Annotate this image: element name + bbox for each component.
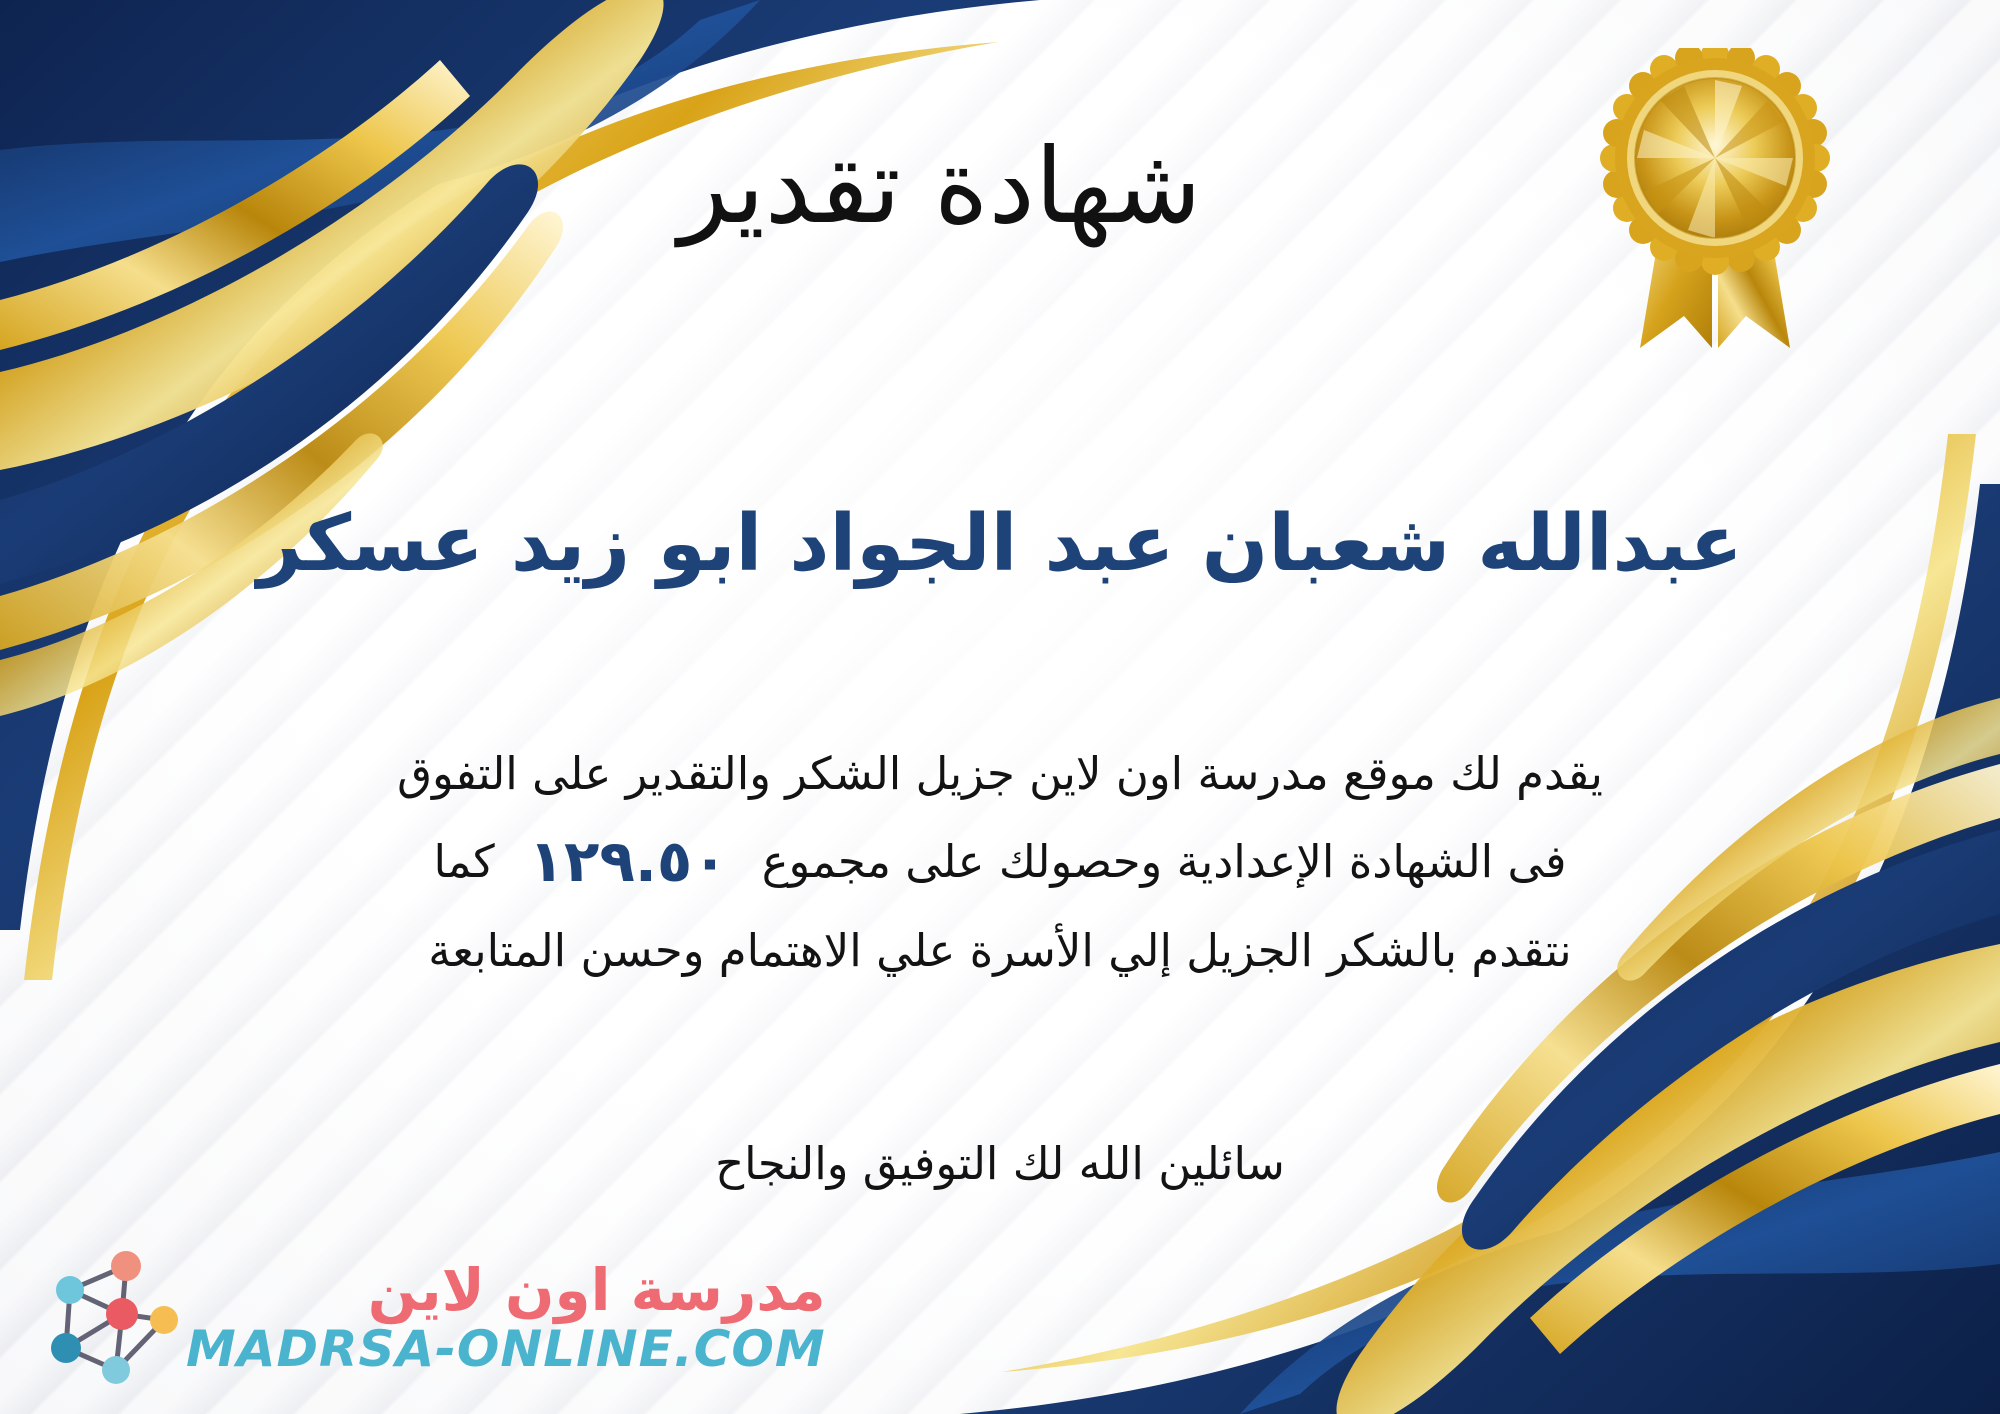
brand-logo[interactable]: مدرسة اون لاين MADRSA-ONLINE.COM	[30, 1242, 826, 1392]
body-line-1: يقدم لك موقع مدرسة اون لاين جزيل الشكر و…	[190, 735, 1810, 812]
body-line-3: نتقدم بالشكر الجزيل إلي الأسرة علي الاهت…	[190, 912, 1810, 989]
recipient-name: عبدالله شعبان عبد الجواد ابو زيد عسكر	[0, 498, 2000, 590]
gold-medal-rosette-icon	[1600, 48, 1830, 358]
node-darkteal	[51, 1333, 81, 1363]
closing-wish: سائلين الله لك التوفيق والنجاح	[0, 1128, 2000, 1200]
node-red	[106, 1298, 138, 1330]
total-grade-value: ١٢٩.٥٠	[495, 827, 762, 895]
body-line-2: فى الشهادة الإعدادية وحصولك على مجموع١٢٩…	[190, 812, 1810, 912]
node-teal	[102, 1356, 130, 1384]
certificate-body: يقدم لك موقع مدرسة اون لاين جزيل الشكر و…	[0, 735, 2000, 990]
node-amber	[150, 1306, 178, 1334]
brand-arabic-name: مدرسة اون لاين	[368, 1258, 826, 1323]
certificate-page: شهادة تقدير عبدالله شعبان عبد الجواد ابو…	[0, 0, 2000, 1414]
body-line-2-text-after: كما	[434, 835, 495, 888]
brand-text-block: مدرسة اون لاين MADRSA-ONLINE.COM	[186, 1258, 826, 1377]
node-coral	[111, 1251, 141, 1281]
brand-website: MADRSA-ONLINE.COM	[186, 1322, 826, 1376]
node-lightblue	[56, 1276, 84, 1304]
body-line-2-text-before: فى الشهادة الإعدادية وحصولك على مجموع	[762, 835, 1567, 888]
network-nodes-icon	[30, 1242, 180, 1392]
